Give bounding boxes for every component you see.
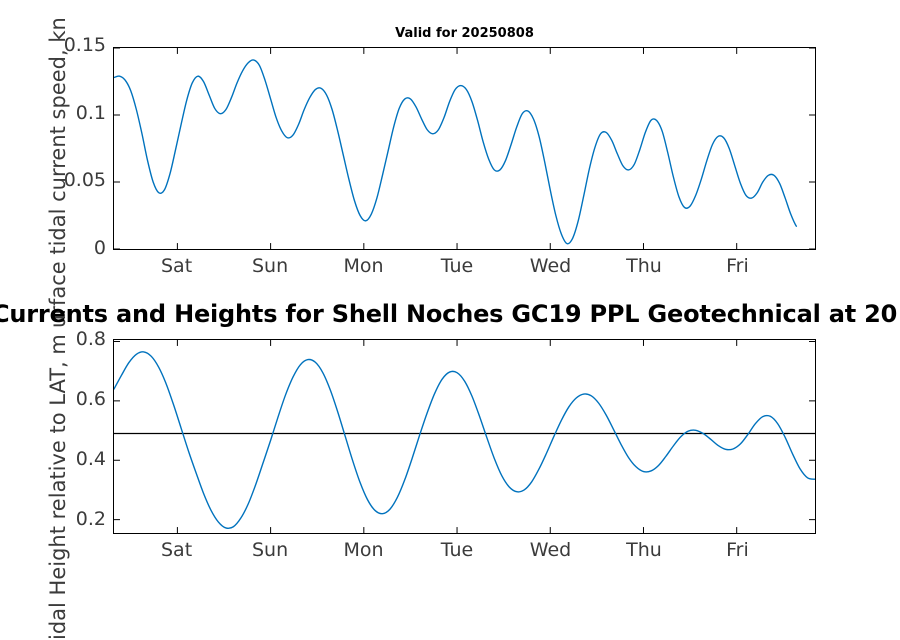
y-tick-label: 0 bbox=[94, 237, 106, 259]
chart-title-top: Valid for 20250808 bbox=[113, 26, 816, 41]
plot-area-bottom bbox=[113, 339, 816, 534]
y-tick-label: 0.6 bbox=[76, 388, 106, 410]
x-tick-label: Mon bbox=[324, 255, 404, 277]
y-tick-label: 0.8 bbox=[76, 328, 106, 350]
y-tick-label: 0.4 bbox=[76, 448, 106, 470]
x-tick-label: Tue bbox=[417, 255, 497, 277]
x-tick-label: Wed bbox=[511, 255, 591, 277]
x-tick-label: Mon bbox=[324, 539, 404, 561]
x-tick-label: Sun bbox=[230, 539, 310, 561]
x-tick-label: Fri bbox=[697, 255, 777, 277]
y-tick-label: 0.15 bbox=[64, 34, 106, 56]
data-series-line bbox=[114, 352, 815, 529]
x-tick-label: Fri bbox=[697, 539, 777, 561]
x-tick-label: Sat bbox=[137, 539, 217, 561]
x-tick-label: Thu bbox=[604, 255, 684, 277]
data-series-line bbox=[114, 60, 796, 244]
x-tick-label: Thu bbox=[604, 539, 684, 561]
tidal-height-line-chart bbox=[114, 340, 815, 533]
y-tick-label: 0.05 bbox=[64, 169, 106, 191]
plot-area-top bbox=[113, 47, 816, 250]
x-tick-label: Tue bbox=[417, 539, 497, 561]
x-tick-label: Wed bbox=[511, 539, 591, 561]
y-tick-label: 0.1 bbox=[76, 102, 106, 124]
figure-suptitle: Currents and Heights for Shell Noches GC… bbox=[0, 300, 900, 328]
x-tick-label: Sun bbox=[230, 255, 310, 277]
tidal-current-speed-line-chart bbox=[114, 48, 815, 249]
y-axis-label-bottom: idal Height relative to LAT, m bbox=[46, 334, 70, 640]
figure-canvas: Valid for 20250808 urface tidal current … bbox=[0, 0, 900, 600]
y-tick-label: 0.2 bbox=[76, 508, 106, 530]
x-tick-label: Sat bbox=[137, 255, 217, 277]
